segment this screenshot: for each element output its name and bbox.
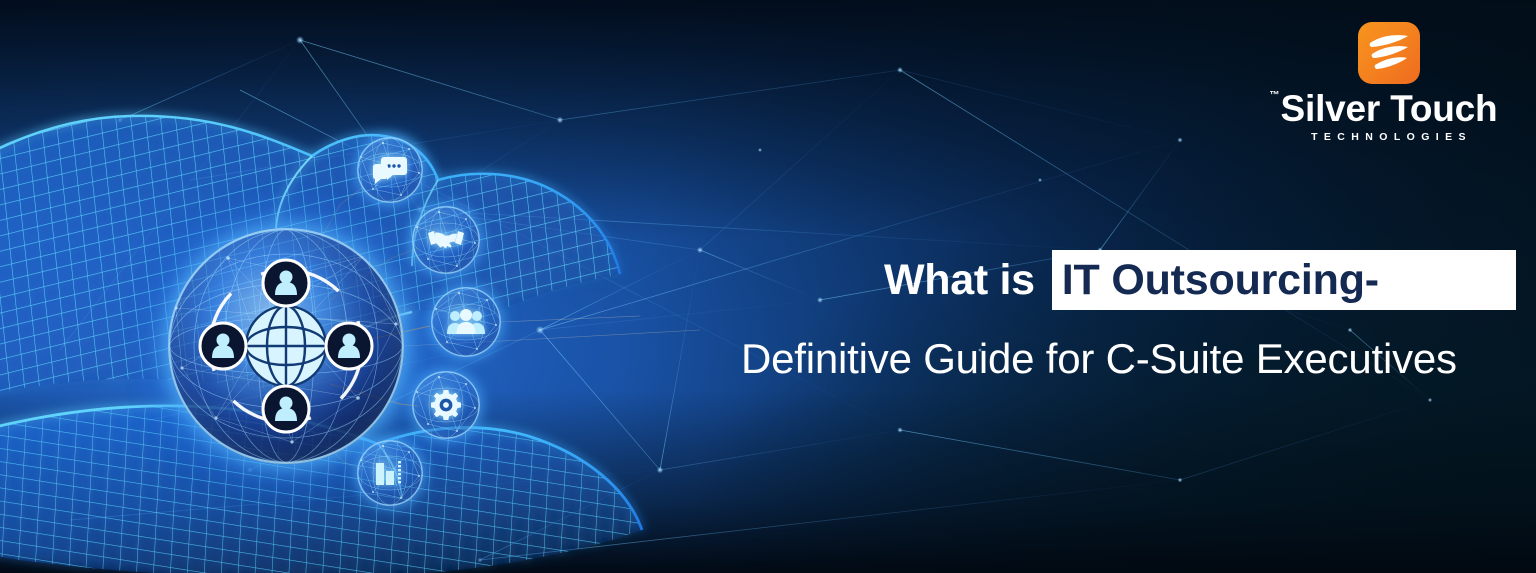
global-network-sphere: [168, 228, 404, 464]
globe-with-users-icon: [168, 228, 404, 464]
handshake-icon-bubble[interactable]: [412, 206, 480, 274]
gear-icon-bubble[interactable]: [412, 371, 480, 439]
team-group-icon: [431, 287, 501, 357]
headline-highlight: IT Outsourcing-: [1052, 250, 1516, 310]
chat-bubble-icon-bubble[interactable]: [357, 137, 423, 203]
team-group-icon-bubble[interactable]: [431, 287, 501, 357]
bar-chart-icon: [357, 440, 423, 506]
handshake-icon: [412, 206, 480, 274]
headline-block: What is IT Outsourcing- Definitive Guide…: [884, 250, 1516, 380]
it-outsourcing-banner: ™ Silver Touch TECHNOLOGIES What is IT O…: [0, 0, 1536, 573]
headline-subtitle: Definitive Guide for C-Suite Executives: [741, 338, 1516, 380]
trademark-symbol: ™: [1270, 91, 1280, 101]
logo-wordmark-wrapper: ™ Silver Touch: [1281, 90, 1498, 127]
chat-bubble-icon: [357, 137, 423, 203]
bar-chart-icon-bubble[interactable]: [357, 440, 423, 506]
gear-icon: [412, 371, 480, 439]
logo-wordmark-text: Silver Touch: [1281, 88, 1498, 129]
silver-touch-swoosh-mark: [1358, 22, 1420, 84]
logo-subtitle: TECHNOLOGIES: [1269, 131, 1514, 143]
silver-touch-logo[interactable]: ™ Silver Touch TECHNOLOGIES: [1264, 22, 1514, 143]
headline-kicker: What is: [884, 250, 1052, 310]
headline-line-1: What is IT Outsourcing-: [884, 250, 1516, 310]
